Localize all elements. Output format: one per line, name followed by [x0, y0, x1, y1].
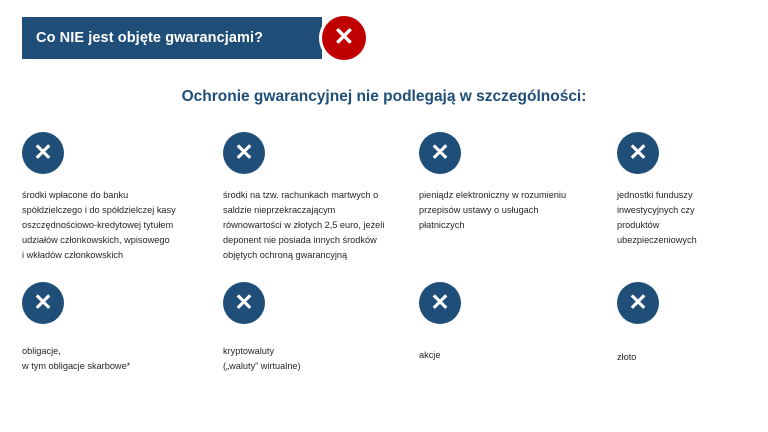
x-mark-icon: ✕: [419, 132, 461, 174]
x-glyph: ✕: [430, 141, 449, 164]
x-glyph: ✕: [628, 291, 647, 314]
x-mark-icon: ✕: [322, 16, 366, 60]
x-glyph: ✕: [33, 291, 52, 314]
list-item-text: środki wpłacone do banku spółdzielczego …: [22, 188, 190, 263]
list-item-text: kryptowaluty („waluty” wirtualne): [223, 344, 391, 374]
list-item: ✕ obligacje, w tym obligacje skarbowe*: [0, 282, 201, 422]
items-grid: ✕ środki wpłacone do banku spółdzielczeg…: [0, 132, 768, 422]
subtitle: Ochronie gwarancyjnej nie podlegają w sz…: [0, 88, 768, 106]
list-item-text: pieniądz elektroniczny w rozumieniu prze…: [419, 188, 587, 233]
x-mark-icon: ✕: [223, 132, 265, 174]
x-glyph: ✕: [334, 25, 355, 50]
x-mark-icon: ✕: [223, 282, 265, 324]
list-item: ✕ środki wpłacone do banku spółdzielczeg…: [0, 132, 201, 282]
list-item-text: jednostki funduszy inwestycyjnych czy pr…: [617, 188, 768, 248]
page-title: Co NIE jest objęte gwarancjami?: [22, 30, 263, 46]
x-mark-icon: ✕: [419, 282, 461, 324]
x-mark-icon: ✕: [617, 282, 659, 324]
list-item: ✕ kryptowaluty („waluty” wirtualne): [201, 282, 397, 422]
x-mark-icon: ✕: [22, 282, 64, 324]
items-row: ✕ środki wpłacone do banku spółdzielczeg…: [0, 132, 768, 282]
items-row: ✕ obligacje, w tym obligacje skarbowe* ✕…: [0, 282, 768, 422]
x-glyph: ✕: [430, 291, 449, 314]
header-bar: Co NIE jest objęte gwarancjami?: [22, 17, 322, 59]
slide: Co NIE jest objęte gwarancjami? ✕ Ochron…: [0, 0, 768, 432]
list-item: ✕ jednostki funduszy inwestycyjnych czy …: [595, 132, 768, 282]
list-item: ✕ środki na tzw. rachunkach martwych o s…: [201, 132, 397, 282]
x-glyph: ✕: [234, 141, 253, 164]
list-item: ✕ złoto: [595, 282, 768, 422]
list-item-text: złoto: [617, 350, 768, 365]
list-item-text: obligacje, w tym obligacje skarbowe*: [22, 344, 190, 374]
list-item-text: środki na tzw. rachunkach martwych o sal…: [223, 188, 391, 263]
x-mark-icon: ✕: [617, 132, 659, 174]
list-item: ✕ pieniądz elektroniczny w rozumieniu pr…: [397, 132, 595, 282]
list-item-text: akcje: [419, 348, 587, 363]
x-glyph: ✕: [234, 291, 253, 314]
x-mark-icon: ✕: [22, 132, 64, 174]
x-glyph: ✕: [628, 141, 647, 164]
list-item: ✕ akcje: [397, 282, 595, 422]
x-glyph: ✕: [33, 141, 52, 164]
